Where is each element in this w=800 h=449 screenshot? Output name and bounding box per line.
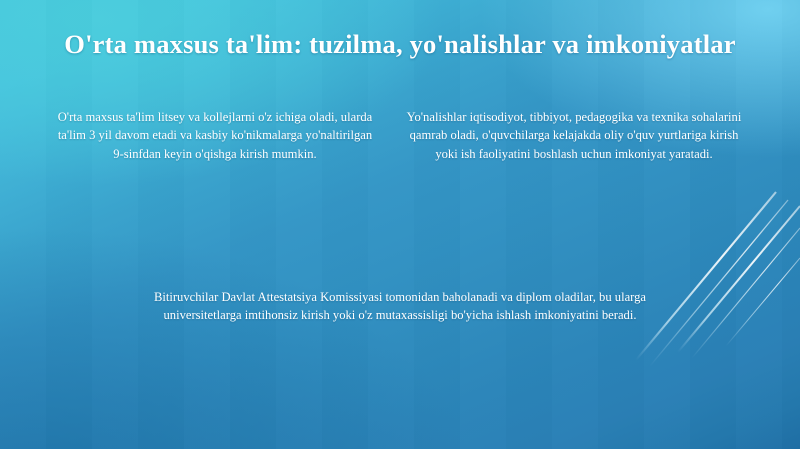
content-column-left: O'rta maxsus ta'lim litsey va kollejlarn…	[56, 108, 374, 163]
presentation-slide: O'rta maxsus ta'lim: tuzilma, yo'nalishl…	[0, 0, 800, 449]
background-banding-texture	[0, 0, 800, 449]
diagonal-light-streaks-decoration	[630, 170, 800, 400]
content-column-right: Yo'nalishlar iqtisodiyot, tibbiyot, peda…	[398, 108, 750, 163]
background-corner-shading	[0, 225, 480, 449]
slide-title: O'rta maxsus ta'lim: tuzilma, yo'nalishl…	[0, 27, 800, 61]
content-block-bottom: Bitiruvchilar Davlat Attestatsiya Komiss…	[150, 288, 650, 325]
